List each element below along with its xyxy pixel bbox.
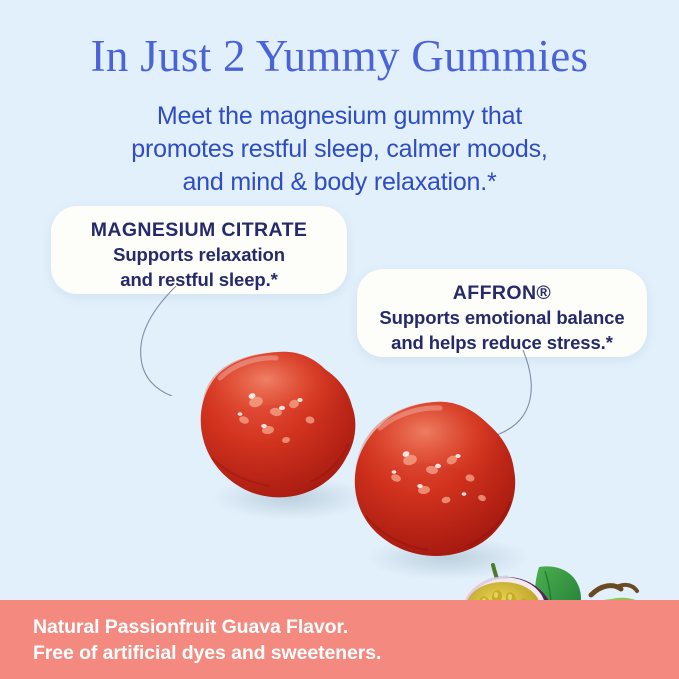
gummy-right [336, 398, 532, 584]
banner-line-2: Free of artificial dyes and sweeteners. [33, 640, 381, 666]
callout-line-1: Supports relaxation [51, 242, 347, 267]
callout-card-affron: AFFRON® Supports emotional balance and h… [357, 269, 647, 357]
subtitle-line-2: promotes restful sleep, calmer moods, [0, 133, 679, 166]
callout-line-1: Supports emotional balance [357, 305, 647, 330]
flavor-banner: Natural Passionfruit Guava Flavor. Free … [0, 600, 679, 679]
subtitle: Meet the magnesium gummy that promotes r… [0, 100, 679, 199]
subtitle-line-3: and mind & body relaxation.* [0, 166, 679, 199]
subtitle-line-1: Meet the magnesium gummy that [0, 100, 679, 133]
banner-line-1: Natural Passionfruit Guava Flavor. [33, 614, 381, 640]
callout-line-2: and helps reduce stress.* [357, 330, 647, 355]
callout-title-affron: AFFRON® [357, 281, 647, 305]
infographic-canvas: In Just 2 Yummy Gummies Meet the magnesi… [0, 0, 679, 679]
page-title: In Just 2 Yummy Gummies [0, 29, 679, 83]
callout-title-magnesium-citrate: MAGNESIUM CITRATE [51, 218, 347, 242]
banner-text: Natural Passionfruit Guava Flavor. Free … [33, 614, 381, 666]
callout-line-2: and restful sleep.* [51, 267, 347, 292]
callout-card-magnesium-citrate: MAGNESIUM CITRATE Supports relaxation an… [51, 206, 347, 294]
